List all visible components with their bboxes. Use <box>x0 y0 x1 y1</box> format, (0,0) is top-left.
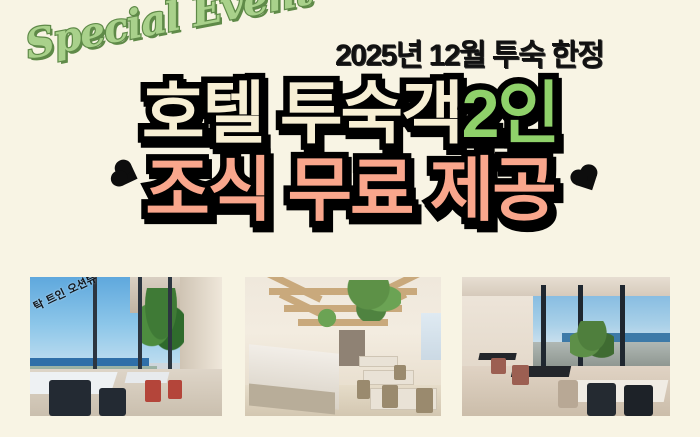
plant-icon <box>138 288 184 355</box>
headline-line-1: 호텔 투숙객2인 <box>0 80 700 149</box>
plant-icon <box>570 321 614 360</box>
photo-ocean-view-restaurant: 탁 트인 오션뷰 <box>30 277 222 416</box>
headline-hotel-guest: 호텔 투숙객 <box>142 80 462 149</box>
headline-two-persons: 2인 <box>462 80 558 149</box>
special-event-label: Special Event <box>22 0 316 69</box>
photo-buffet-hall <box>245 277 441 416</box>
headline-free-breakfast: 조식 무료 제공 <box>145 155 554 226</box>
photo-strip: 탁 트인 오션뷰 <box>0 277 700 417</box>
photo-city-view-art <box>462 277 670 416</box>
plant-icon <box>347 280 401 322</box>
promo-banner: Special Event 2025년 12월 투숙 한정 호텔 투숙객2인 조… <box>0 0 700 437</box>
photo-buffet-hall-art <box>245 277 441 416</box>
headline-block: 호텔 투숙객2인 조식 무료 제공 <box>0 80 700 227</box>
plant-icon <box>312 308 342 333</box>
photo-city-view-dining <box>462 277 670 416</box>
date-restriction-label: 2025년 12월 투숙 한정 <box>335 30 603 74</box>
